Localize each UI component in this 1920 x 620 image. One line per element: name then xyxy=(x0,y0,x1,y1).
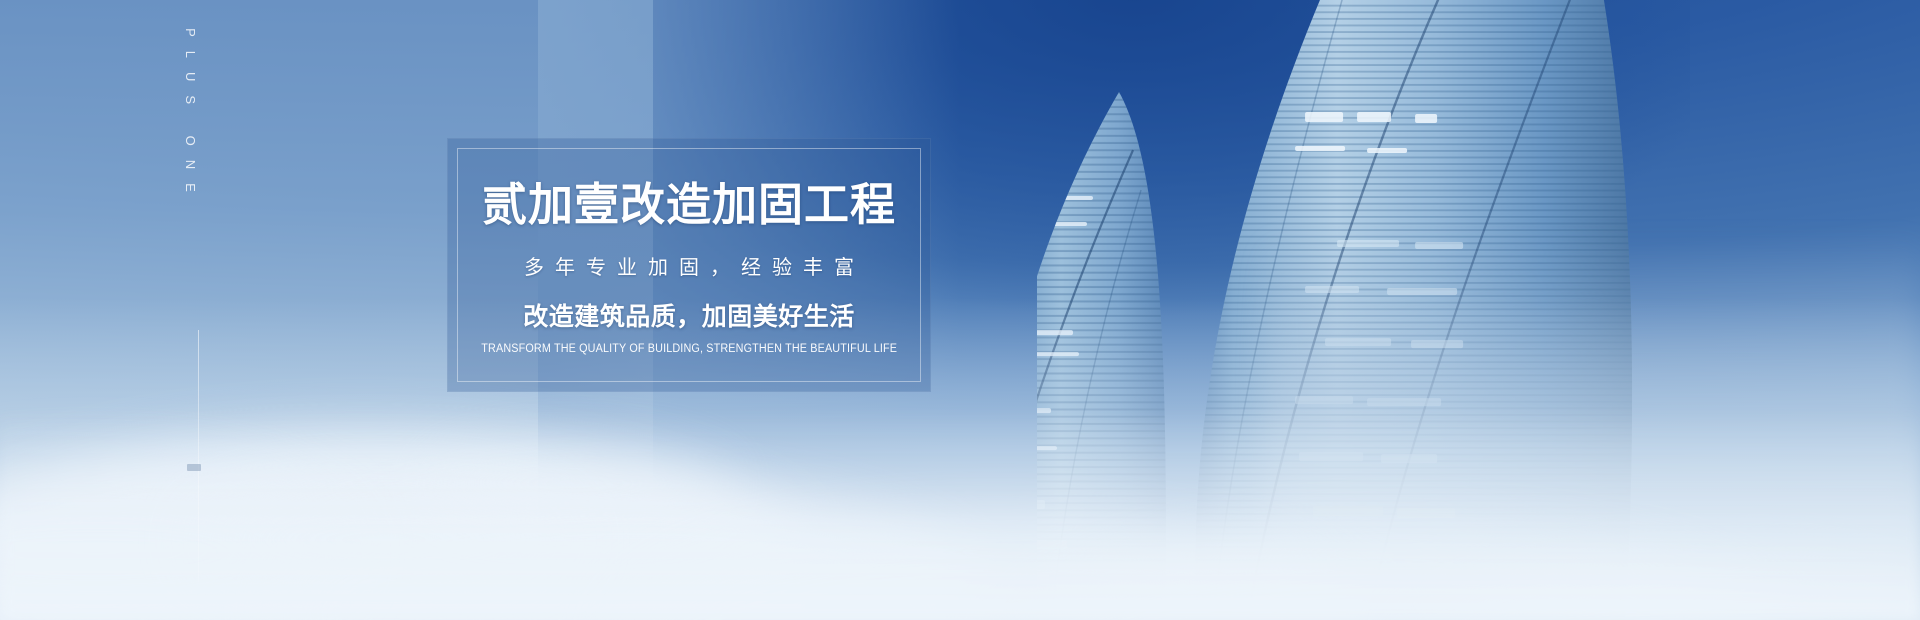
vertical-divider-line xyxy=(198,330,199,582)
subtitle: 多年专业加固，经验丰富 xyxy=(513,258,865,278)
hero-text-panel: 贰加壹改造加固工程 多年专业加固，经验丰富 改造建筑品质，加固美好生活 TRAN… xyxy=(447,138,931,392)
page-title: 贰加壹改造加固工程 xyxy=(482,182,896,227)
brand-mark xyxy=(187,464,201,471)
english-tagline: TRANSFORM THE QUALITY OF BUILDING, STREN… xyxy=(481,344,897,356)
panel-content: 贰加壹改造加固工程 多年专业加固，经验丰富 改造建筑品质，加固美好生活 TRAN… xyxy=(447,138,931,392)
cloud-haze xyxy=(0,409,1920,620)
hero-banner: TWO PLUS ONE 贰加壹改造加固工程 多年专业加固，经验丰富 改造建筑品… xyxy=(0,0,1920,620)
tagline: 改造建筑品质，加固美好生活 xyxy=(523,305,855,330)
brand-vertical-text: TWO PLUS ONE xyxy=(183,0,198,206)
brand-rail: TWO PLUS ONE xyxy=(168,0,228,620)
